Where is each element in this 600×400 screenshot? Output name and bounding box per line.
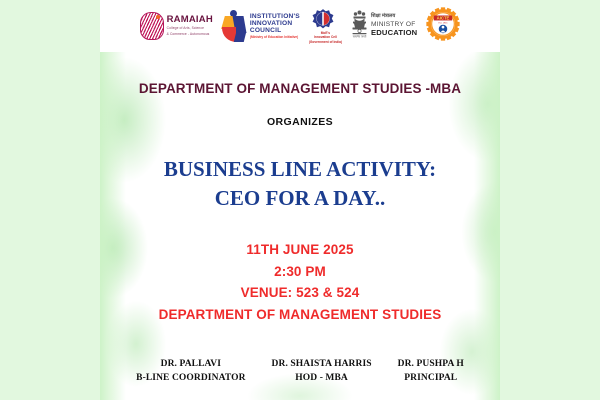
- signatory-name: DR. SHAISTA HARRIS: [272, 358, 372, 372]
- iic-logo-line1: INSTITUTION'S: [250, 13, 300, 20]
- event-poster: RAMAIAH College of Arts, Science & Comme…: [0, 0, 600, 400]
- ministry-of-education-line2: EDUCATION: [371, 29, 417, 38]
- activity-title-line2: CEO FOR A DAY..: [100, 184, 500, 213]
- signatory-hod: DR. SHAISTA HARRIS HOD - MBA: [272, 358, 372, 386]
- moe-innovation-cell-logo: MoE's Innovation Cell (Government of Ind…: [309, 6, 342, 46]
- aicte-logo: AICTE Est. 1945: [426, 6, 460, 46]
- signatory-role: PRINCIPAL: [398, 372, 464, 386]
- organizes-label: ORGANIZES: [100, 116, 500, 128]
- iic-figure-icon: [222, 10, 247, 42]
- signatory-role: HOD - MBA: [272, 372, 372, 386]
- moe-innovation-cell-line3: (Government of India): [309, 40, 342, 44]
- ramaiah-logo-subtitle-line1: College of Arts, Science: [167, 26, 213, 31]
- logo-strip: RAMAIAH College of Arts, Science & Comme…: [100, 0, 500, 52]
- signatories-row: DR. PALLAVI B-LINE COORDINATOR DR. SHAIS…: [100, 358, 500, 386]
- department-heading: DEPARTMENT OF MANAGEMENT STUDIES -MBA: [100, 81, 500, 96]
- ramaiah-logo-name: RAMAIAH: [167, 15, 213, 25]
- iic-logo-line3: COUNCIL: [250, 27, 300, 34]
- iic-logo: INSTITUTION'S INNOVATION COUNCIL (Minist…: [222, 6, 300, 46]
- event-department: DEPARTMENT OF MANAGEMENT STUDIES: [100, 304, 500, 326]
- svg-text:Est. 1945: Est. 1945: [439, 21, 449, 24]
- ramaiah-emblem-icon: [140, 12, 164, 40]
- ministry-of-education-hindi: शिक्षा मंत्रालय: [371, 14, 417, 20]
- signatory-name: DR. PUSHPA H: [398, 358, 464, 372]
- signatory-role: B-LINE COORDINATOR: [136, 372, 245, 386]
- ashoka-emblem-icon: सत्यमेव जयते: [351, 9, 368, 44]
- signatory-coordinator: DR. PALLAVI B-LINE COORDINATOR: [136, 358, 245, 386]
- activity-title: BUSINESS LINE ACTIVITY: CEO FOR A DAY..: [100, 155, 500, 213]
- event-date: 11TH JUNE 2025: [100, 239, 500, 261]
- activity-title-line1: BUSINESS LINE ACTIVITY:: [100, 155, 500, 184]
- ministry-of-education-logo: सत्यमेव जयते शिक्षा मंत्रालय MINISTRY OF…: [351, 6, 417, 46]
- event-time: 2:30 PM: [100, 261, 500, 283]
- ramaiah-logo-subtitle-line2: & Commerce - Autonomous: [167, 32, 213, 37]
- iic-logo-line2: INNOVATION: [250, 20, 300, 27]
- iic-logo-subtitle: (Ministry of Education Initiative): [250, 36, 300, 40]
- signatory-principal: DR. PUSHPA H PRINCIPAL: [398, 358, 464, 386]
- event-details: 11TH JUNE 2025 2:30 PM VENUE: 523 & 524 …: [100, 239, 500, 325]
- event-venue: VENUE: 523 & 524: [100, 282, 500, 304]
- svg-text:AICTE: AICTE: [437, 15, 450, 20]
- moe-innovation-cell-gear-icon: [312, 8, 338, 30]
- svg-text:सत्यमेव जयते: सत्यमेव जयते: [353, 34, 367, 38]
- aicte-gear-icon: AICTE Est. 1945: [426, 7, 460, 46]
- ramaiah-logo: RAMAIAH College of Arts, Science & Comme…: [140, 6, 213, 46]
- signatory-name: DR. PALLAVI: [136, 358, 245, 372]
